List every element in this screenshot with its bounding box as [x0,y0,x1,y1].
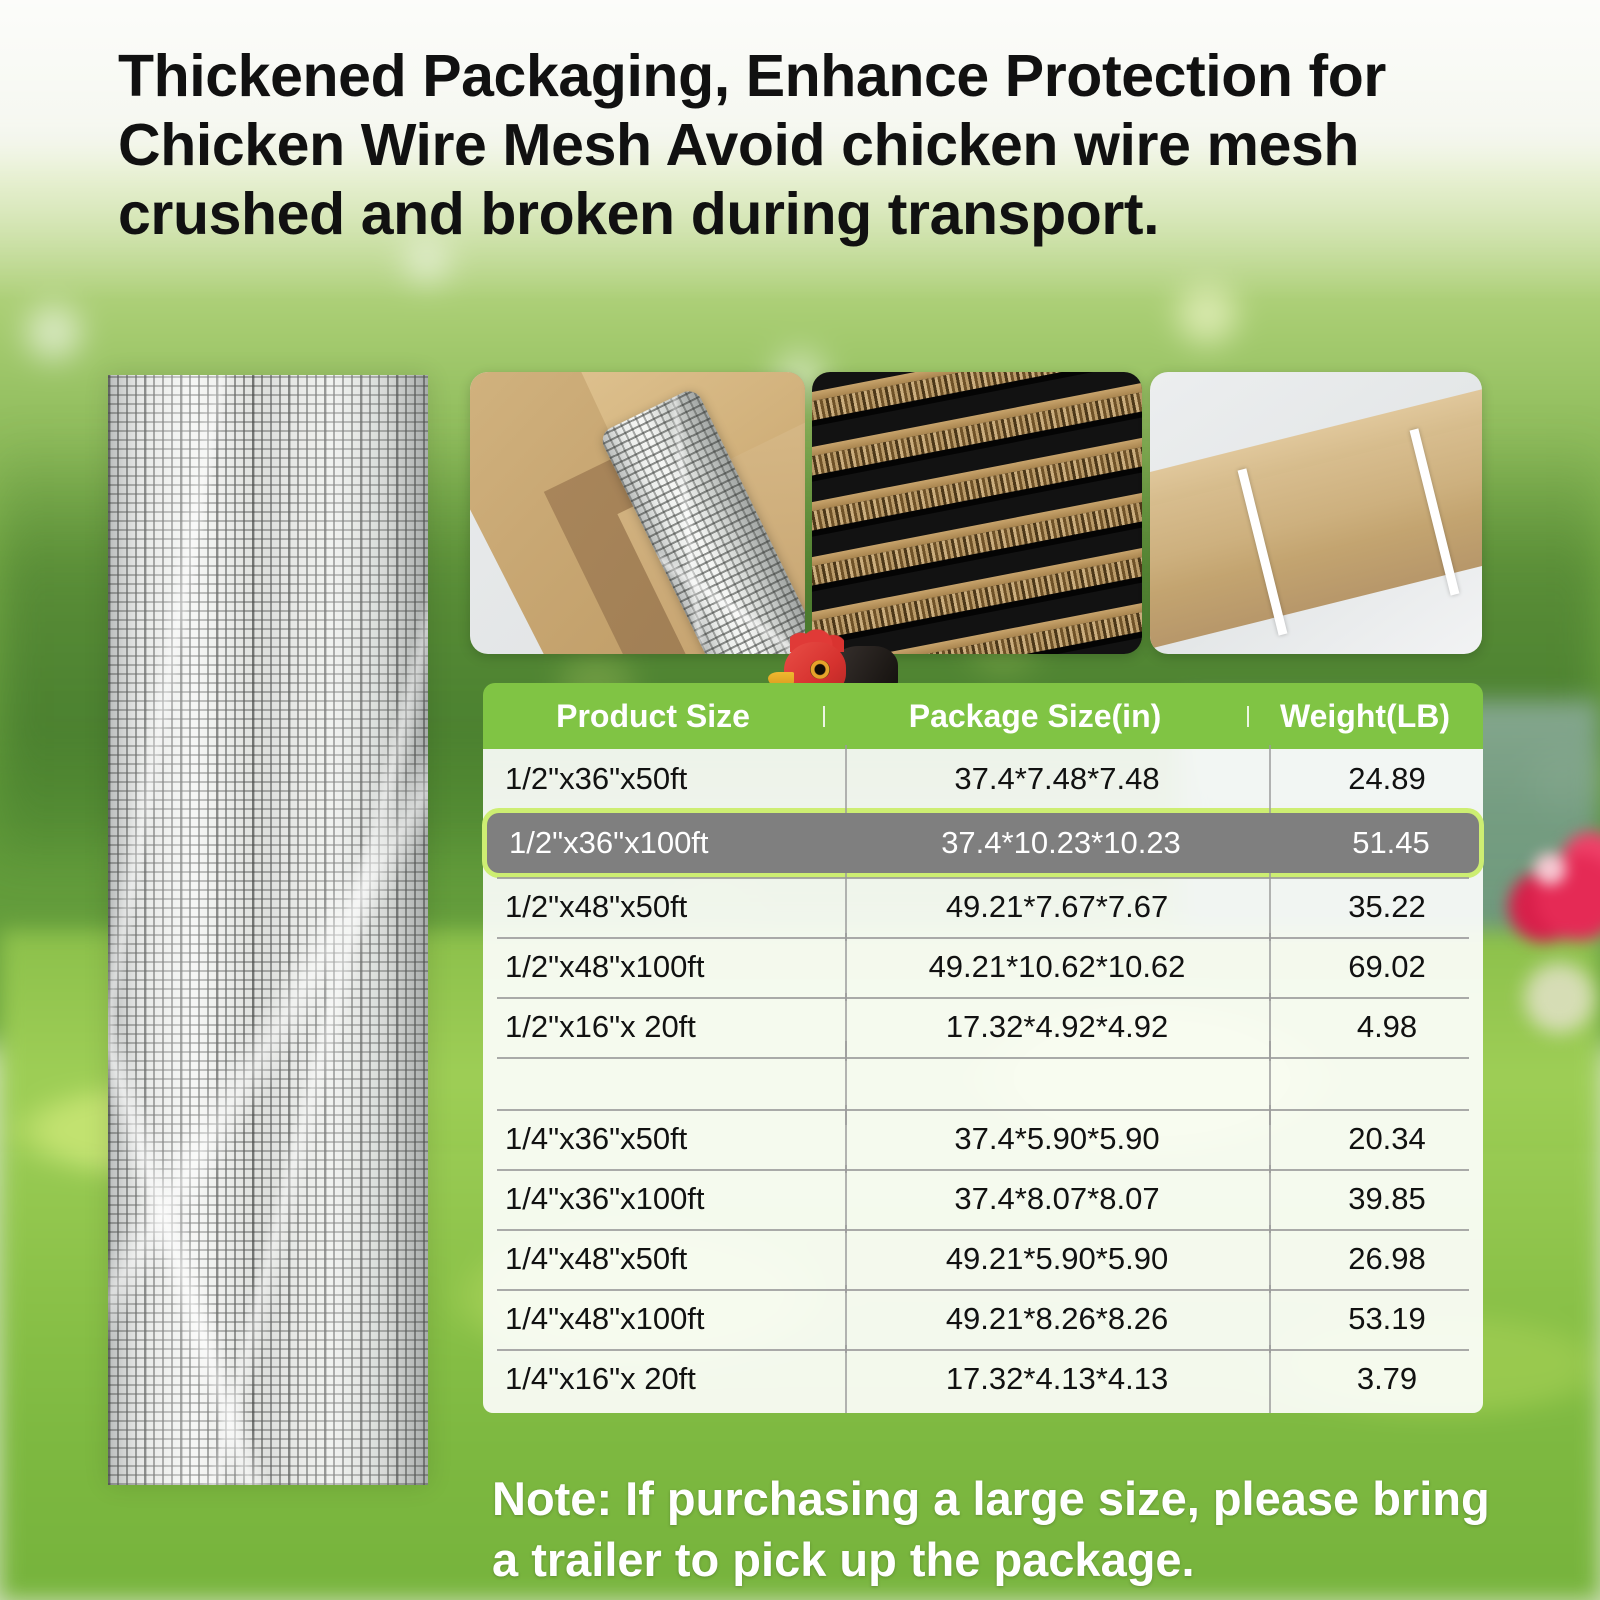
cell-package-size: 49.21*8.26*8.26 [845,1301,1269,1337]
note-text: Note: If purchasing a large size, please… [492,1468,1502,1590]
cell-weight: 35.22 [1269,889,1505,925]
table-row-highlighted: 1/2"x36"x100ft 37.4*10.23*10.23 51.45 [487,813,1479,873]
chicken-eye [810,660,830,679]
cell-weight: 69.02 [1269,949,1505,985]
cell-package-size: 37.4*8.07*8.07 [845,1181,1269,1217]
wire-mesh-roll-image [108,375,428,1485]
photo-corrugated-cardboard-flutes [812,372,1142,654]
cell-package-size: 37.4*7.48*7.48 [845,761,1269,797]
photo-strapped-carton [1150,372,1482,654]
cell-product-size: 1/4"x36"x100ft [483,1181,845,1217]
cell-package-size [845,1057,1269,1109]
cell-weight: 53.19 [1269,1301,1505,1337]
column-header-weight: Weight(LB) [1247,698,1483,735]
column-header-product-size: Product Size [483,698,823,735]
specification-table: Product Size Package Size(in) Weight(LB)… [483,683,1483,1413]
corrugated-layer-stack [812,372,1142,654]
cell-package-size: 49.21*5.90*5.90 [845,1241,1269,1277]
table-row: 1/4"x36"x50ft 37.4*5.90*5.90 20.34 [483,1109,1483,1169]
table-header-row: Product Size Package Size(in) Weight(LB) [483,683,1483,749]
cell-product-size: 1/2"x48"x100ft [483,949,845,985]
table-row: 1/2"x48"x100ft 49.21*10.62*10.62 69.02 [483,937,1483,997]
pink-flower [1498,820,1600,960]
infographic-canvas: Thickened Packaging, Enhance Protection … [0,0,1600,1600]
cell-weight: 20.34 [1269,1121,1505,1157]
background-bloom [1510,950,1600,1070]
cell-product-size: 1/4"x48"x50ft [483,1241,845,1277]
cell-product-size [483,1057,845,1109]
headline: Thickened Packaging, Enhance Protection … [118,42,1498,249]
table-row: 1/2"x48"x50ft 49.21*7.67*7.67 35.22 [483,877,1483,937]
table-row: 1/2"x16"x 20ft 17.32*4.92*4.92 4.98 [483,997,1483,1057]
cell-product-size: 1/4"x16"x 20ft [483,1361,845,1397]
cell-product-size: 1/2"x48"x50ft [483,889,845,925]
column-header-package-size: Package Size(in) [823,698,1247,735]
cell-product-size: 1/2"x16"x 20ft [483,1009,845,1045]
cell-weight: 39.85 [1269,1181,1505,1217]
cell-weight: 24.89 [1269,761,1505,797]
cell-package-size: 49.21*7.67*7.67 [845,889,1269,925]
cell-package-size: 37.4*10.23*10.23 [849,825,1273,861]
cell-weight: 51.45 [1273,825,1509,861]
table-row: 1/4"x16"x 20ft 17.32*4.13*4.13 3.79 [483,1349,1483,1409]
table-row: 1/4"x48"x50ft 49.21*5.90*5.90 26.98 [483,1229,1483,1289]
cell-package-size: 37.4*5.90*5.90 [845,1121,1269,1157]
cell-product-size: 1/2"x36"x100ft [487,825,849,861]
mesh-highlight-sheen [108,375,428,1485]
table-row: 1/2"x36"x50ft 37.4*7.48*7.48 24.89 [483,749,1483,809]
photo-wire-mesh-roll-in-open-carton [470,372,805,654]
table-row: 1/4"x48"x100ft 49.21*8.26*8.26 53.19 [483,1289,1483,1349]
cell-package-size: 17.32*4.92*4.92 [845,1009,1269,1045]
cell-product-size: 1/4"x48"x100ft [483,1301,845,1337]
cell-weight: 4.98 [1269,1009,1505,1045]
cell-weight: 3.79 [1269,1361,1505,1397]
cell-weight [1269,1057,1505,1109]
cell-weight: 26.98 [1269,1241,1505,1277]
table-row-spacer [483,1057,1483,1109]
cell-product-size: 1/4"x36"x50ft [483,1121,845,1157]
cell-package-size: 17.32*4.13*4.13 [845,1361,1269,1397]
cell-package-size: 49.21*10.62*10.62 [845,949,1269,985]
cell-product-size: 1/2"x36"x50ft [483,761,845,797]
table-row: 1/4"x36"x100ft 37.4*8.07*8.07 39.85 [483,1169,1483,1229]
table-body: 1/2"x36"x50ft 37.4*7.48*7.48 24.89 1/2"x… [483,749,1483,1413]
